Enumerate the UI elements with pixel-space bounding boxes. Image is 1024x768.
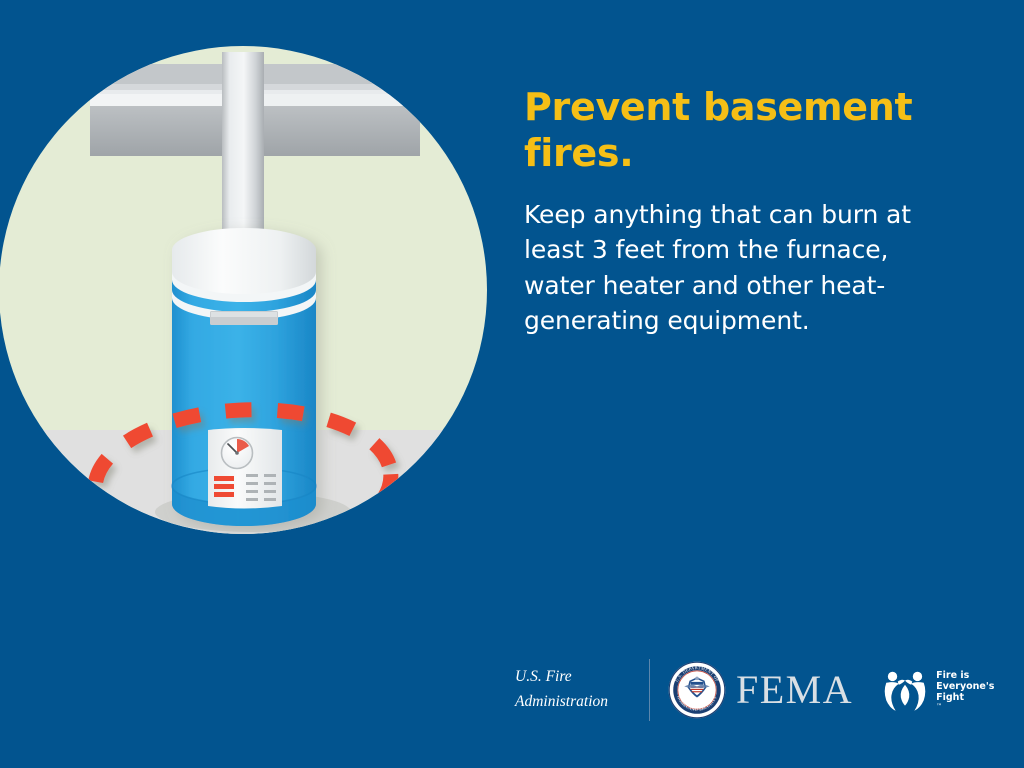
fema-wordmark: FEMA [736, 670, 853, 710]
water-heater-clearance-illustration [0, 34, 492, 550]
text-column: Prevent basement fires. Keep anything th… [524, 84, 954, 339]
fief-figures-flame-icon [879, 664, 931, 716]
fire-is-everyones-fight-logo: Fire is Everyone's Fight™ [879, 664, 994, 716]
headline-line-1: Prevent basement [524, 85, 912, 129]
pressure-gauge [222, 438, 253, 469]
fief-line-1: Fire is [936, 670, 994, 681]
fief-line-3: Fight™ [936, 692, 994, 710]
page-title: Prevent basement fires. [524, 84, 954, 177]
body-copy: Keep anything that can burn at least 3 f… [524, 197, 954, 339]
headline-line-2: fires. [524, 131, 633, 175]
indicator-bars [214, 476, 234, 497]
footer-logo-bar: U.S. Fire Administration U.S. DEPARTMENT… [515, 648, 1015, 732]
fief-tm: ™ [936, 703, 994, 710]
usfa-line-1: U.S. Fire [515, 665, 633, 690]
footer-divider [649, 659, 650, 721]
usfa-wordmark: U.S. Fire Administration [515, 665, 647, 715]
dhs-seal-icon: U.S. DEPARTMENT OF HOMELAND SECURITY [668, 661, 726, 719]
scene-circle [0, 34, 492, 550]
slide-root: Prevent basement fires. Keep anything th… [0, 0, 1024, 768]
fief-line-2: Everyone's [936, 681, 994, 692]
usfa-line-2: Administration [515, 690, 633, 715]
fief-wordmark: Fire is Everyone's Fight™ [936, 670, 994, 711]
control-panel [208, 428, 282, 509]
